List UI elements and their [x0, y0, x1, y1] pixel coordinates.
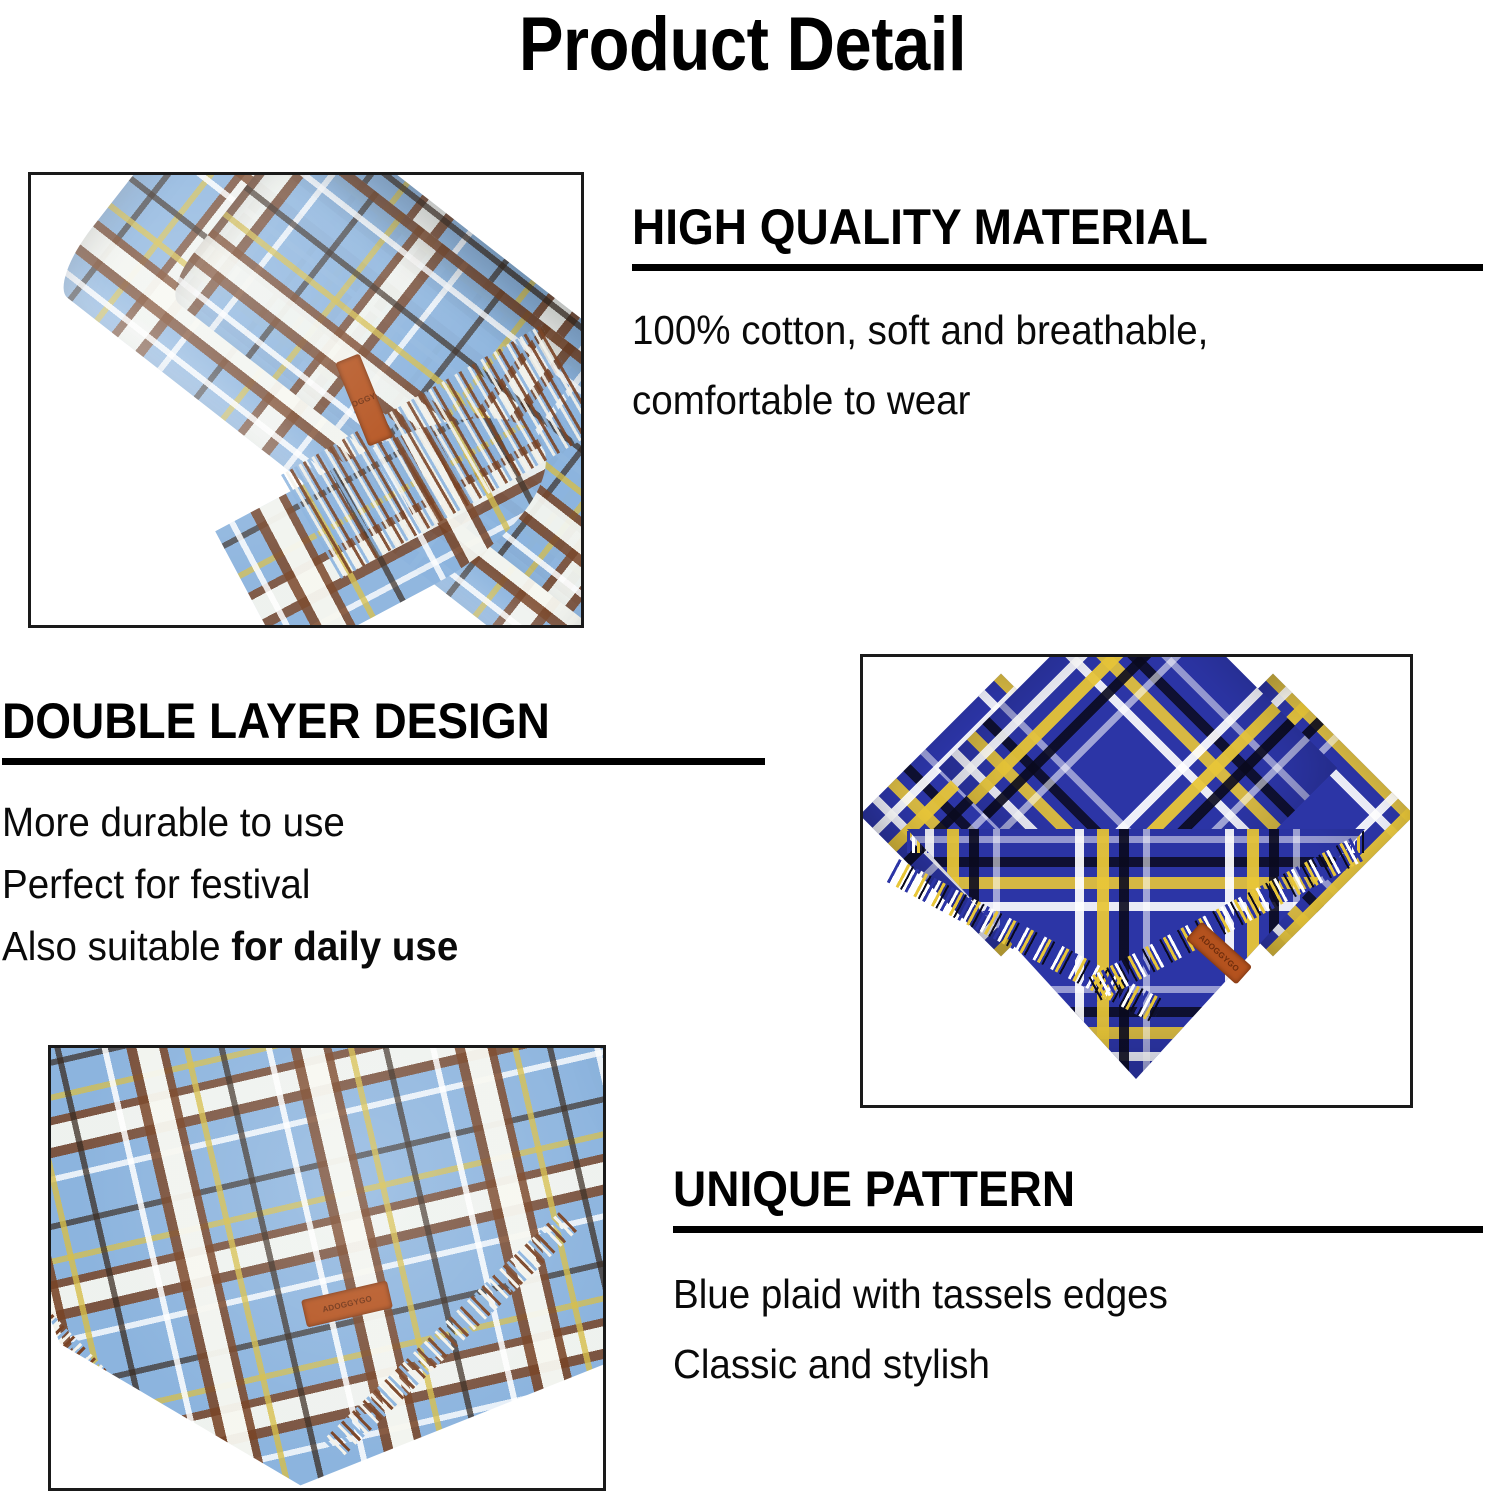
photo-stage: ADOGGYGO: [51, 1048, 603, 1488]
product-photo-flat-bandana: ADOGGYGO: [48, 1045, 606, 1491]
feature-line: Blue plaid with tassels edges: [673, 1259, 1434, 1329]
page-title: Product Detail: [89, 2, 1396, 88]
feature-lines-material: 100% cotton, soft and breathable, comfor…: [632, 295, 1483, 435]
brand-tag-text: ADOGGYGO: [321, 1294, 372, 1314]
product-photo-folded-bandana: ADOGGYGO: [860, 654, 1413, 1108]
feature-heading-material: HIGH QUALITY MATERIAL: [632, 198, 1415, 256]
feature-block-high-quality-material: HIGH QUALITY MATERIAL 100% cotton, soft …: [632, 198, 1483, 435]
feature-heading-double-layer: DOUBLE LAYER DESIGN: [2, 692, 704, 750]
photo-stage: ADOGGYGO: [31, 175, 581, 625]
feature-lines-unique-pattern: Blue plaid with tassels edges Classic an…: [673, 1259, 1483, 1399]
feature-line-prefix: Also suitable: [2, 923, 231, 969]
heading-underline-unique-pattern: [673, 1226, 1483, 1233]
heading-underline-material: [632, 264, 1483, 271]
feature-block-double-layer-design: DOUBLE LAYER DESIGN More durable to use …: [2, 692, 765, 977]
feature-line: 100% cotton, soft and breathable,: [632, 295, 1432, 365]
feature-line: Perfect for festival: [2, 853, 719, 915]
folded-bandana-group: ADOGGYGO: [893, 679, 1379, 1079]
feature-block-unique-pattern: UNIQUE PATTERN Blue plaid with tassels e…: [673, 1160, 1483, 1399]
photo-stage: ADOGGYGO: [863, 657, 1410, 1105]
feature-line-emphasis: for daily use: [231, 923, 458, 969]
feature-line: More durable to use: [2, 791, 719, 853]
product-photo-rolled-bandana: ADOGGYGO: [28, 172, 584, 628]
feature-line: comfortable to wear: [632, 365, 1432, 435]
feature-line: Classic and stylish: [673, 1329, 1434, 1399]
feature-line-mixed: Also suitable for daily use: [2, 915, 719, 977]
feature-lines-double-layer: More durable to use Perfect for festival…: [2, 791, 765, 977]
heading-underline-double-layer: [2, 758, 765, 765]
feature-heading-unique-pattern: UNIQUE PATTERN: [673, 1160, 1418, 1218]
